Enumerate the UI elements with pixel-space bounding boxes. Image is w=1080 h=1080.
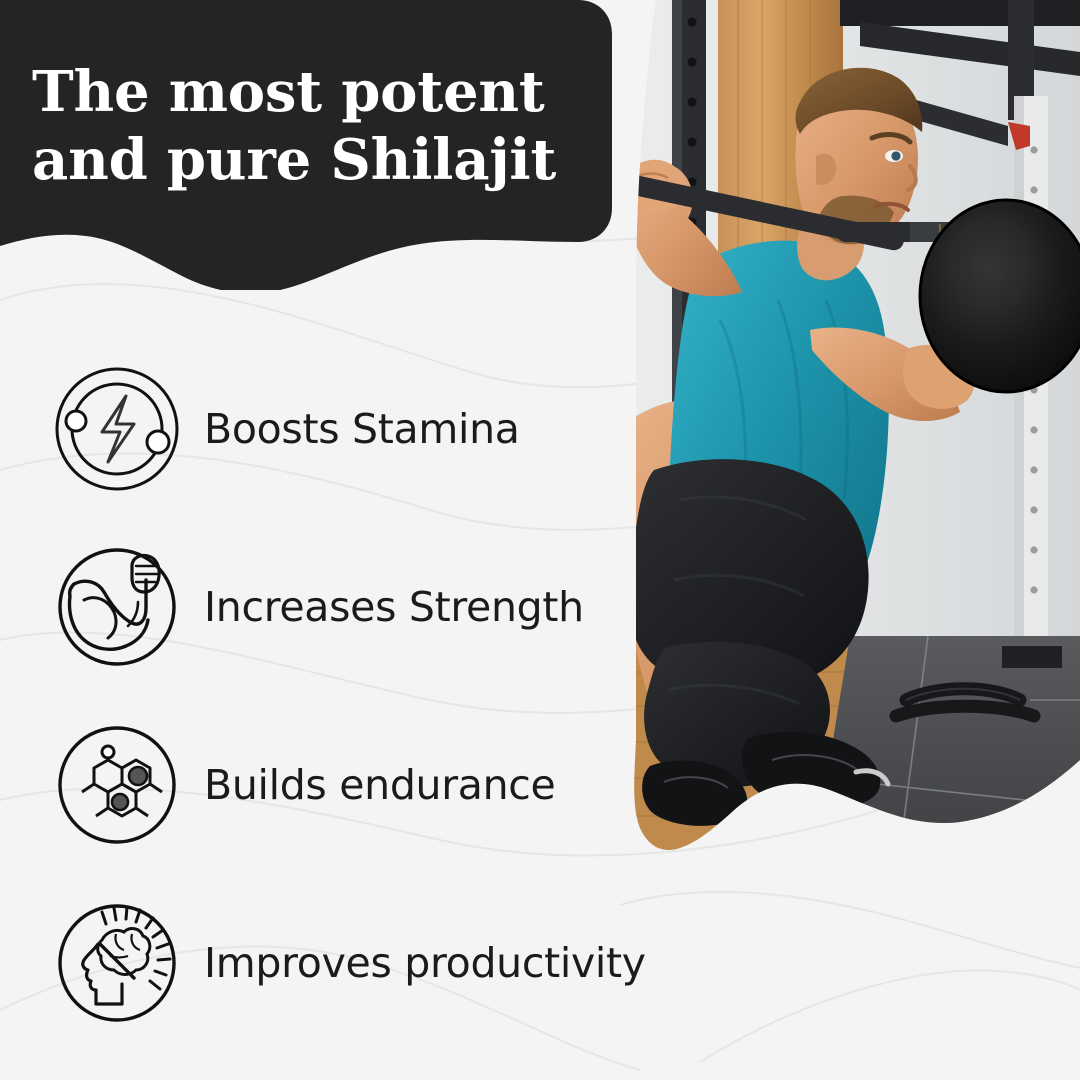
benefit-item-builds-endurance: Builds endurance (0, 696, 610, 874)
benefit-label: Builds endurance (204, 761, 555, 809)
headline-line-1: The most potent (32, 58, 592, 126)
benefit-label: Increases Strength (204, 583, 584, 631)
benefits-list: Boosts Stamina (0, 340, 610, 1052)
benefit-label: Boosts Stamina (204, 405, 520, 453)
lightning-bolt-icon (54, 366, 180, 492)
benefit-item-improves-productivity: Improves productivity (0, 874, 610, 1052)
benefit-item-boosts-stamina: Boosts Stamina (0, 340, 610, 518)
molecule-icon (54, 722, 180, 848)
benefit-label: Improves productivity (204, 939, 646, 987)
promo-graphic: The most potent and pure Shilajit Boosts… (0, 0, 1080, 1080)
headline-panel: The most potent and pure Shilajit (0, 0, 612, 290)
benefit-item-increases-strength: Increases Strength (0, 518, 610, 696)
athlete-photo-panel (610, 0, 1080, 880)
athlete-barbell-squat-photo (610, 0, 1080, 880)
brain-head-icon (54, 900, 180, 1026)
page-title: The most potent and pure Shilajit (32, 58, 592, 195)
headline-line-2: and pure Shilajit (32, 126, 592, 194)
flexed-bicep-icon (54, 544, 180, 670)
